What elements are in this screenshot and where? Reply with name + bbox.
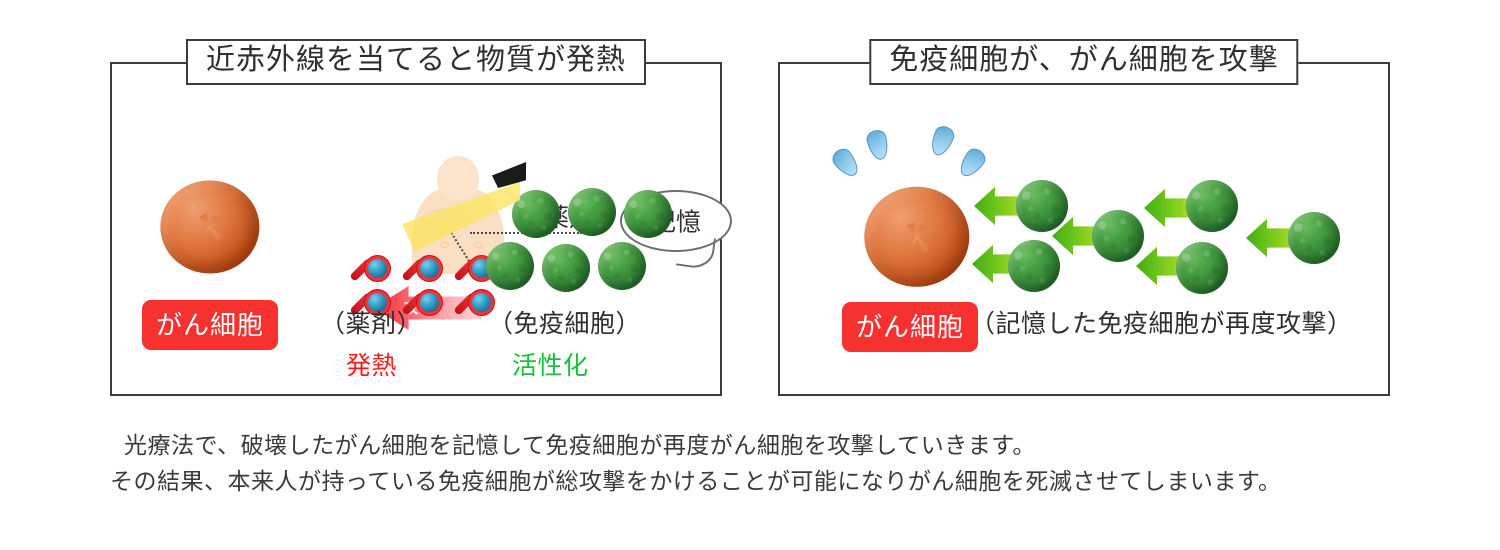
immune-cell-icon (568, 188, 616, 236)
panel-right-title: 免疫細胞が、がん細胞を攻撃 (869, 39, 1298, 85)
panel-left: 近赤外線を当てると物質が発熱 がん細胞 (110, 62, 722, 396)
cancer-cell-icon (832, 156, 1002, 318)
bubble-tail (676, 234, 716, 271)
immune-cell-icon (542, 244, 590, 292)
panel-left-title: 近赤外線を当てると物質が発熱 (186, 39, 646, 85)
immune-cell-icon (1186, 180, 1238, 232)
footer-line-2: その結果、本来人が持っている免疫細胞が総攻撃をかけることが可能になりがん細胞を死… (110, 464, 1500, 500)
diagram-stage: 近赤外線を当てると物質が発熱 がん細胞 (0, 0, 1500, 550)
immune-cell-icon (598, 242, 646, 290)
drug-caption-sub: 発熱 (346, 346, 397, 382)
footer-caption: 光療法で、破壊したがん細胞を記憶して免疫細胞が再度がん細胞を攻撃していきます。 … (0, 428, 1500, 499)
drug-core (420, 293, 439, 312)
reattack-note: （記憶した免疫細胞が再度攻撃） (970, 304, 1353, 340)
immune-cell-icon (1288, 212, 1340, 264)
drug-core (368, 259, 387, 278)
near-infrared-torch-icon (492, 162, 526, 188)
drop-shape (927, 123, 957, 158)
head (437, 156, 479, 200)
drug-caption: （薬剤） (320, 304, 422, 340)
panel-right: 免疫細胞が、がん細胞を攻撃 (778, 62, 1390, 396)
immune-cell-icon (486, 242, 534, 290)
cancer-cell-badge: がん細胞 (142, 300, 278, 350)
drug-ring (365, 256, 390, 281)
immune-cell-icon (1176, 242, 1228, 294)
drug-ring (417, 256, 442, 281)
immune-caption-sub: 活性化 (512, 346, 589, 382)
sweat-drop-icon (927, 123, 957, 158)
drug-core (420, 259, 439, 278)
immune-caption: （免疫細胞） (488, 304, 641, 340)
footer-line-1: 光療法で、破壊したがん細胞を記憶して免疫細胞が再度がん細胞を攻撃していきます。 (124, 428, 1500, 464)
immune-cell-icon (624, 190, 672, 238)
cancer-cell-badge: がん細胞 (842, 302, 978, 352)
cancer-cell-icon (130, 152, 290, 302)
